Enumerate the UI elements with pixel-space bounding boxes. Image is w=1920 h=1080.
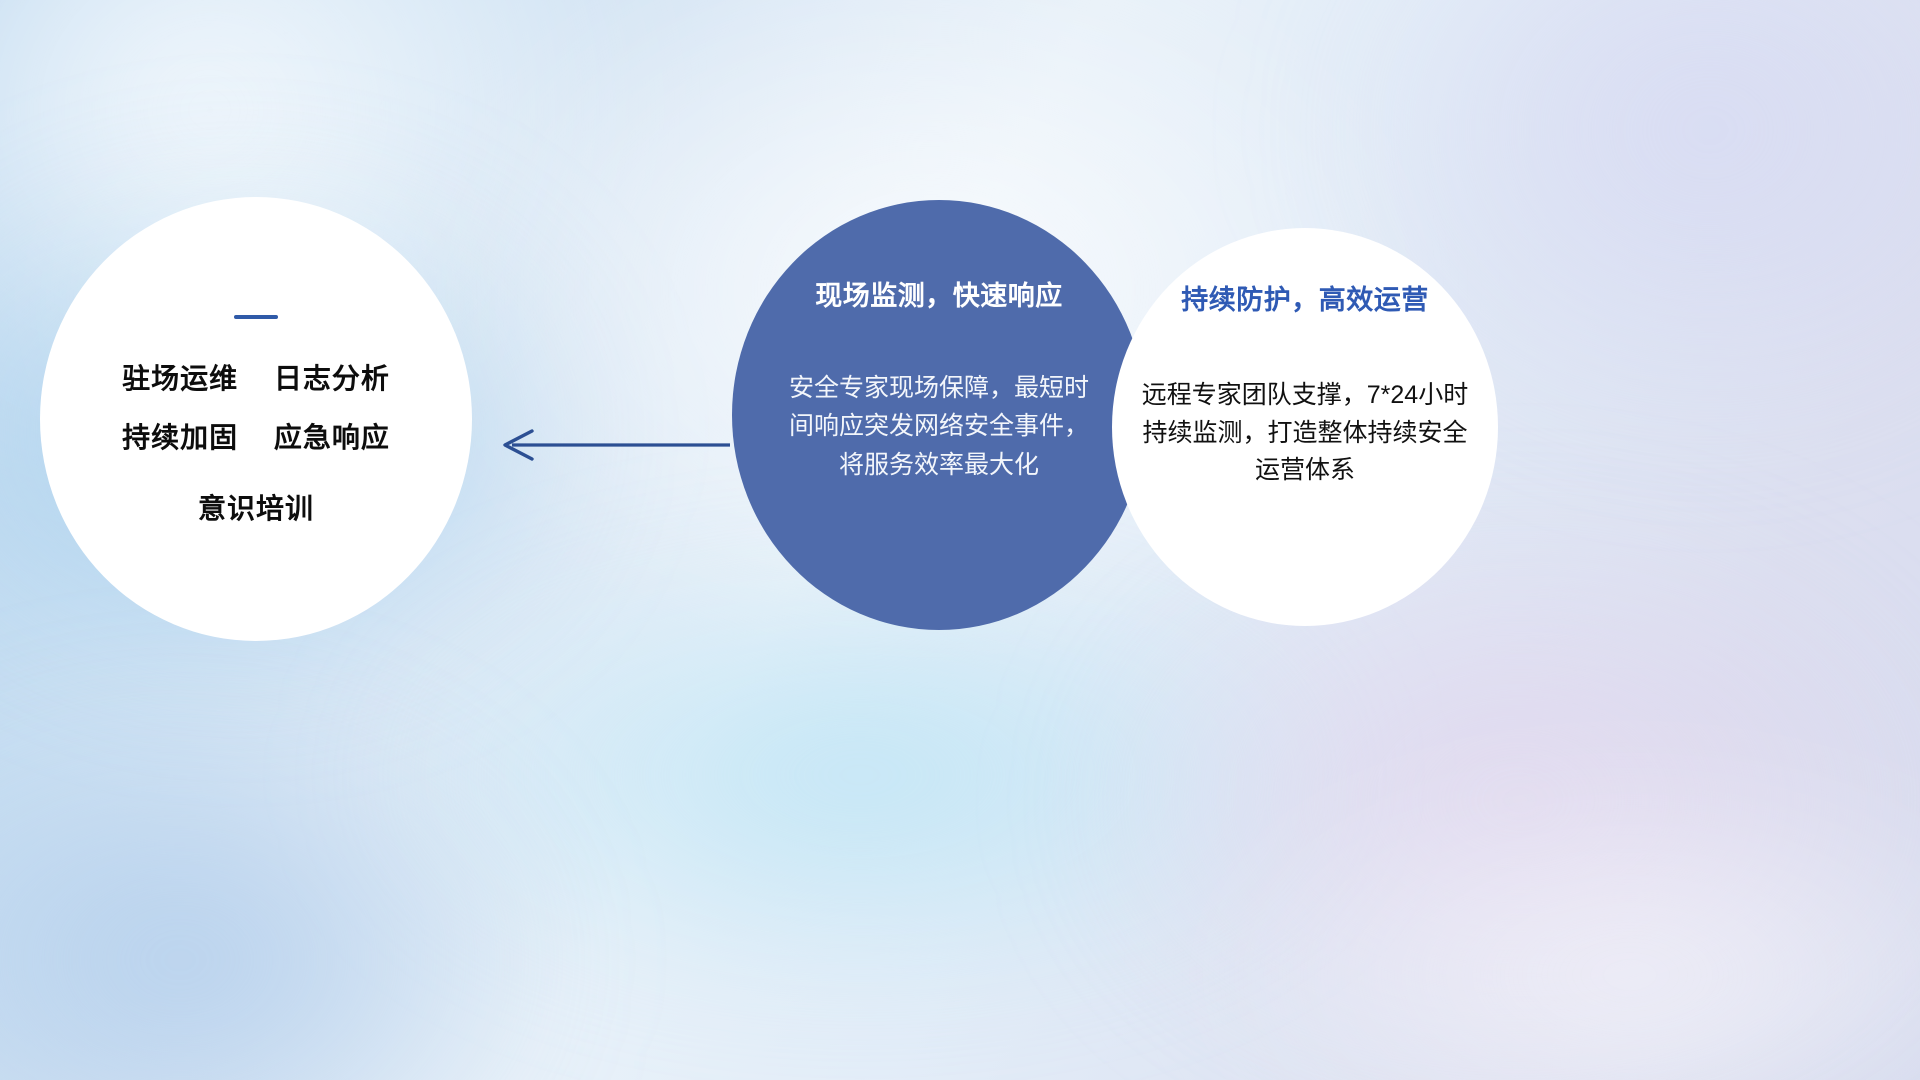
bubble-continuous-protection[interactable]: 持续防护，高效运营 远程专家团队支撑，7*24小时持续监测，打造整体持续安全运营… <box>1112 228 1498 626</box>
bubble-continuous-protection-body: 远程专家团队支撑，7*24小时持续监测，打造整体持续安全运营体系 <box>1135 377 1475 490</box>
capability-label: 持续加固 <box>122 424 238 452</box>
capability-row: 意识培训 <box>198 495 314 523</box>
bubble-service-capabilities-content: 驻场运维 日志分析 持续加固 应急响应 意识培训 <box>40 197 472 641</box>
capability-label: 意识培训 <box>198 495 314 523</box>
divider-dash <box>234 315 278 319</box>
capability-row: 持续加固 应急响应 <box>122 424 390 452</box>
capability-label: 应急响应 <box>274 424 390 452</box>
bubble-onsite-monitoring-body: 安全专家现场保障，最短时间响应突发网络安全事件，将服务效率最大化 <box>789 369 1089 484</box>
connector-arrow <box>480 400 740 490</box>
capability-label: 日志分析 <box>274 365 390 393</box>
arrow-left-icon <box>480 400 740 490</box>
bubble-onsite-monitoring[interactable]: 现场监测，快速响应 安全专家现场保障，最短时间响应突发网络安全事件，将服务效率最… <box>732 200 1146 630</box>
capability-row: 驻场运维 日志分析 <box>122 365 390 393</box>
bubble-continuous-protection-content: 持续防护，高效运营 远程专家团队支撑，7*24小时持续监测，打造整体持续安全运营… <box>1112 228 1498 626</box>
capability-label: 驻场运维 <box>122 365 238 393</box>
bubble-onsite-monitoring-content: 现场监测，快速响应 安全专家现场保障，最短时间响应突发网络安全事件，将服务效率最… <box>732 200 1146 630</box>
bubble-continuous-protection-title: 持续防护，高效运营 <box>1181 278 1429 317</box>
bubble-service-capabilities[interactable]: 驻场运维 日志分析 持续加固 应急响应 意识培训 <box>40 197 472 641</box>
bubble-onsite-monitoring-title: 现场监测，快速响应 <box>815 274 1063 313</box>
